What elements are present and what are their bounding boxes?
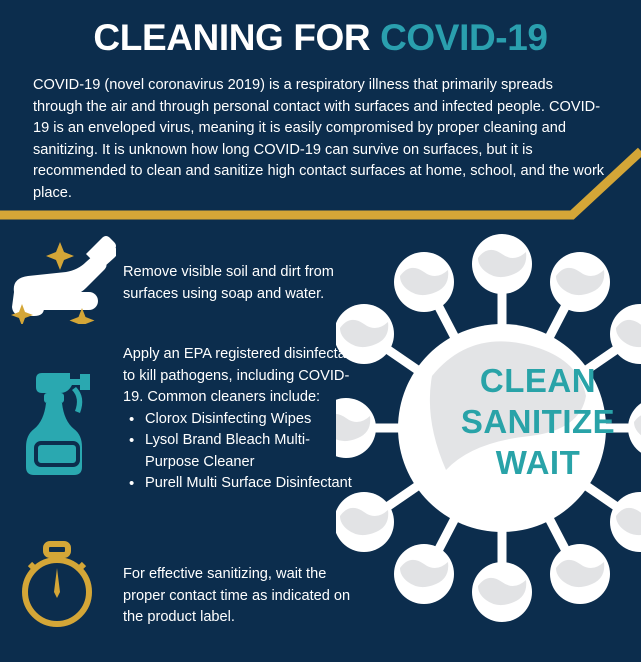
spray-bottle-icon	[18, 365, 98, 480]
section-2-intro: Apply an EPA registered disinfectant to …	[123, 344, 363, 409]
stopwatch-hand	[54, 568, 60, 598]
stopwatch-icon	[16, 538, 98, 635]
infographic-page: CLEANING FOR COVID-19 COVID-19 (novel co…	[0, 0, 641, 662]
list-item: Lysol Brand Bleach Multi-Purpose Cleaner	[123, 430, 363, 473]
section-1-text: Remove visible soil and dirt from surfac…	[123, 262, 368, 305]
coronavirus-illustration	[336, 228, 641, 628]
section-2-text: Apply an EPA registered disinfectant to …	[123, 344, 363, 495]
section-3-text: For effective sanitizing, wait the prope…	[123, 564, 358, 629]
page-title-teal: COVID-19	[380, 17, 547, 58]
gold-divider	[0, 140, 641, 230]
page-title: CLEANING FOR COVID-19	[0, 16, 641, 60]
cleaner-list: Clorox Disinfecting Wipes Lysol Brand Bl…	[123, 409, 363, 495]
list-item: Clorox Disinfecting Wipes	[123, 409, 363, 431]
list-item: Purell Multi Surface Disinfectant	[123, 473, 363, 495]
page-title-white: CLEANING FOR	[93, 17, 380, 58]
wiping-hand-icon	[8, 232, 116, 329]
